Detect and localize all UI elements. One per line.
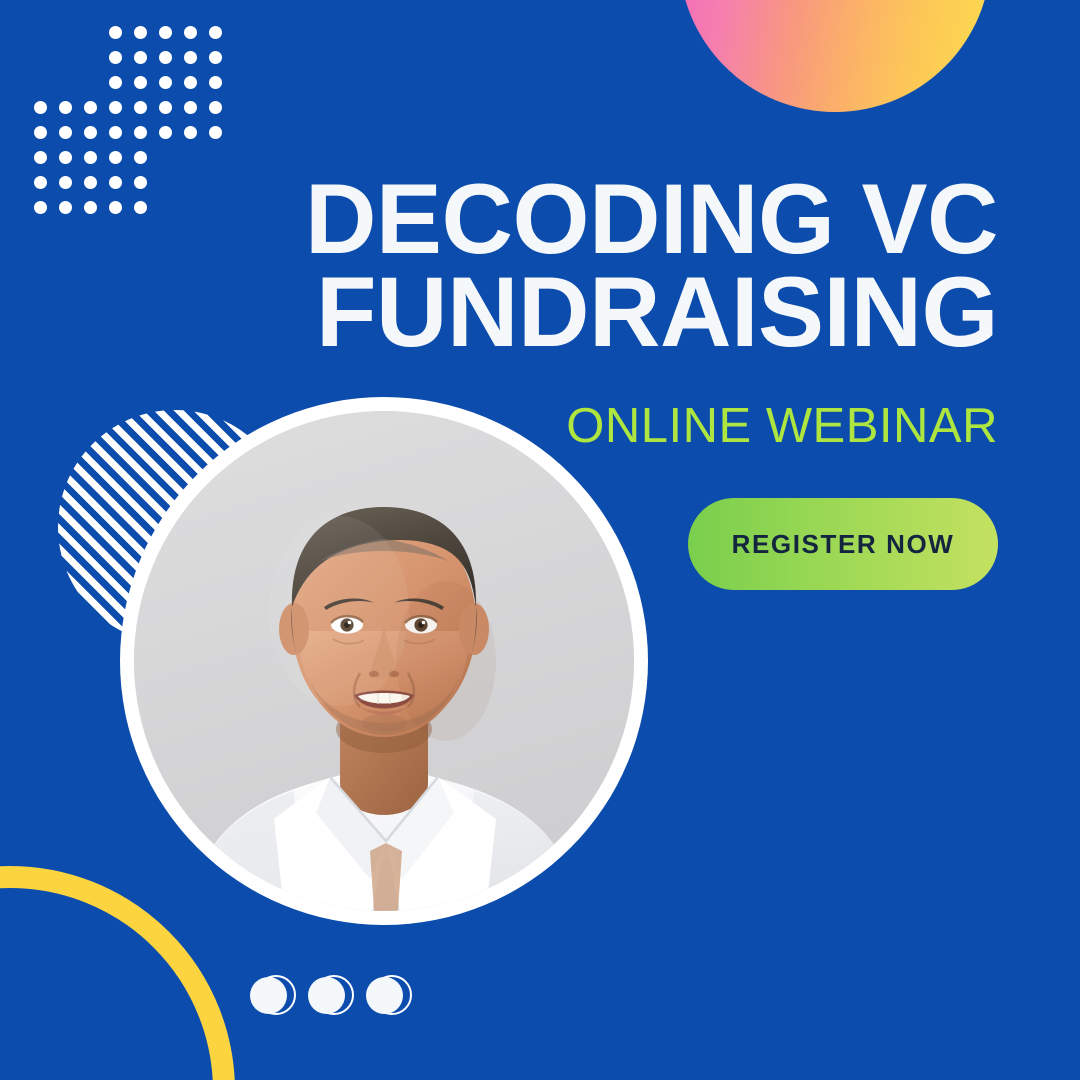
page-title: DECODING VCFUNDRAISING <box>298 0 998 358</box>
grid-dot <box>34 201 47 214</box>
grid-dot <box>134 126 147 139</box>
grid-dot <box>84 176 97 189</box>
grid-dot <box>184 76 197 89</box>
crescent-dot-icon <box>308 975 348 1015</box>
grid-dot <box>134 201 147 214</box>
grid-dot <box>134 176 147 189</box>
grid-dot <box>209 26 222 39</box>
grid-dot <box>184 126 197 139</box>
grid-dot <box>134 76 147 89</box>
grid-dot <box>209 76 222 89</box>
grid-dot <box>109 76 122 89</box>
grid-dot <box>84 101 97 114</box>
grid-dot <box>209 126 222 139</box>
grid-dot <box>59 201 72 214</box>
cta-wrapper: REGISTER NOW <box>298 451 998 590</box>
grid-dot <box>109 126 122 139</box>
grid-dot <box>109 26 122 39</box>
crescent-dot-icon <box>366 975 406 1015</box>
grid-dot <box>134 26 147 39</box>
register-now-button[interactable]: REGISTER NOW <box>688 498 998 590</box>
grid-dot <box>84 151 97 164</box>
webinar-promo-poster: DECODING VCFUNDRAISING ONLINE WEBINAR RE… <box>0 0 1080 1080</box>
grid-dot <box>109 151 122 164</box>
subtitle: ONLINE WEBINAR <box>298 358 998 451</box>
grid-dot <box>109 101 122 114</box>
grid-dot <box>109 51 122 64</box>
grid-dot <box>134 151 147 164</box>
grid-dot <box>59 126 72 139</box>
crescent-solid <box>366 977 403 1014</box>
grid-dot <box>184 101 197 114</box>
grid-dot <box>159 26 172 39</box>
grid-dot <box>34 176 47 189</box>
grid-dot <box>134 101 147 114</box>
grid-dot <box>84 201 97 214</box>
grid-dot <box>34 101 47 114</box>
grid-dot <box>159 51 172 64</box>
grid-dot <box>59 101 72 114</box>
grid-dot <box>134 51 147 64</box>
grid-dot <box>159 101 172 114</box>
crescent-dot-row <box>250 975 406 1015</box>
grid-dot <box>34 126 47 139</box>
grid-dot <box>59 176 72 189</box>
grid-dot <box>209 101 222 114</box>
grid-dot <box>84 126 97 139</box>
dot-grid-icon <box>34 26 234 226</box>
grid-dot <box>109 176 122 189</box>
page-title-line-2: FUNDRAISING <box>316 256 998 367</box>
grid-dot <box>59 151 72 164</box>
crescent-solid <box>250 977 287 1014</box>
grid-dot <box>184 51 197 64</box>
grid-dot <box>159 76 172 89</box>
grid-dot <box>34 151 47 164</box>
grid-dot <box>209 51 222 64</box>
grid-dot <box>159 126 172 139</box>
content-column: DECODING VCFUNDRAISING ONLINE WEBINAR RE… <box>298 0 998 590</box>
grid-dot <box>109 201 122 214</box>
grid-dot <box>184 26 197 39</box>
crescent-solid <box>308 977 345 1014</box>
crescent-dot-icon <box>250 975 290 1015</box>
